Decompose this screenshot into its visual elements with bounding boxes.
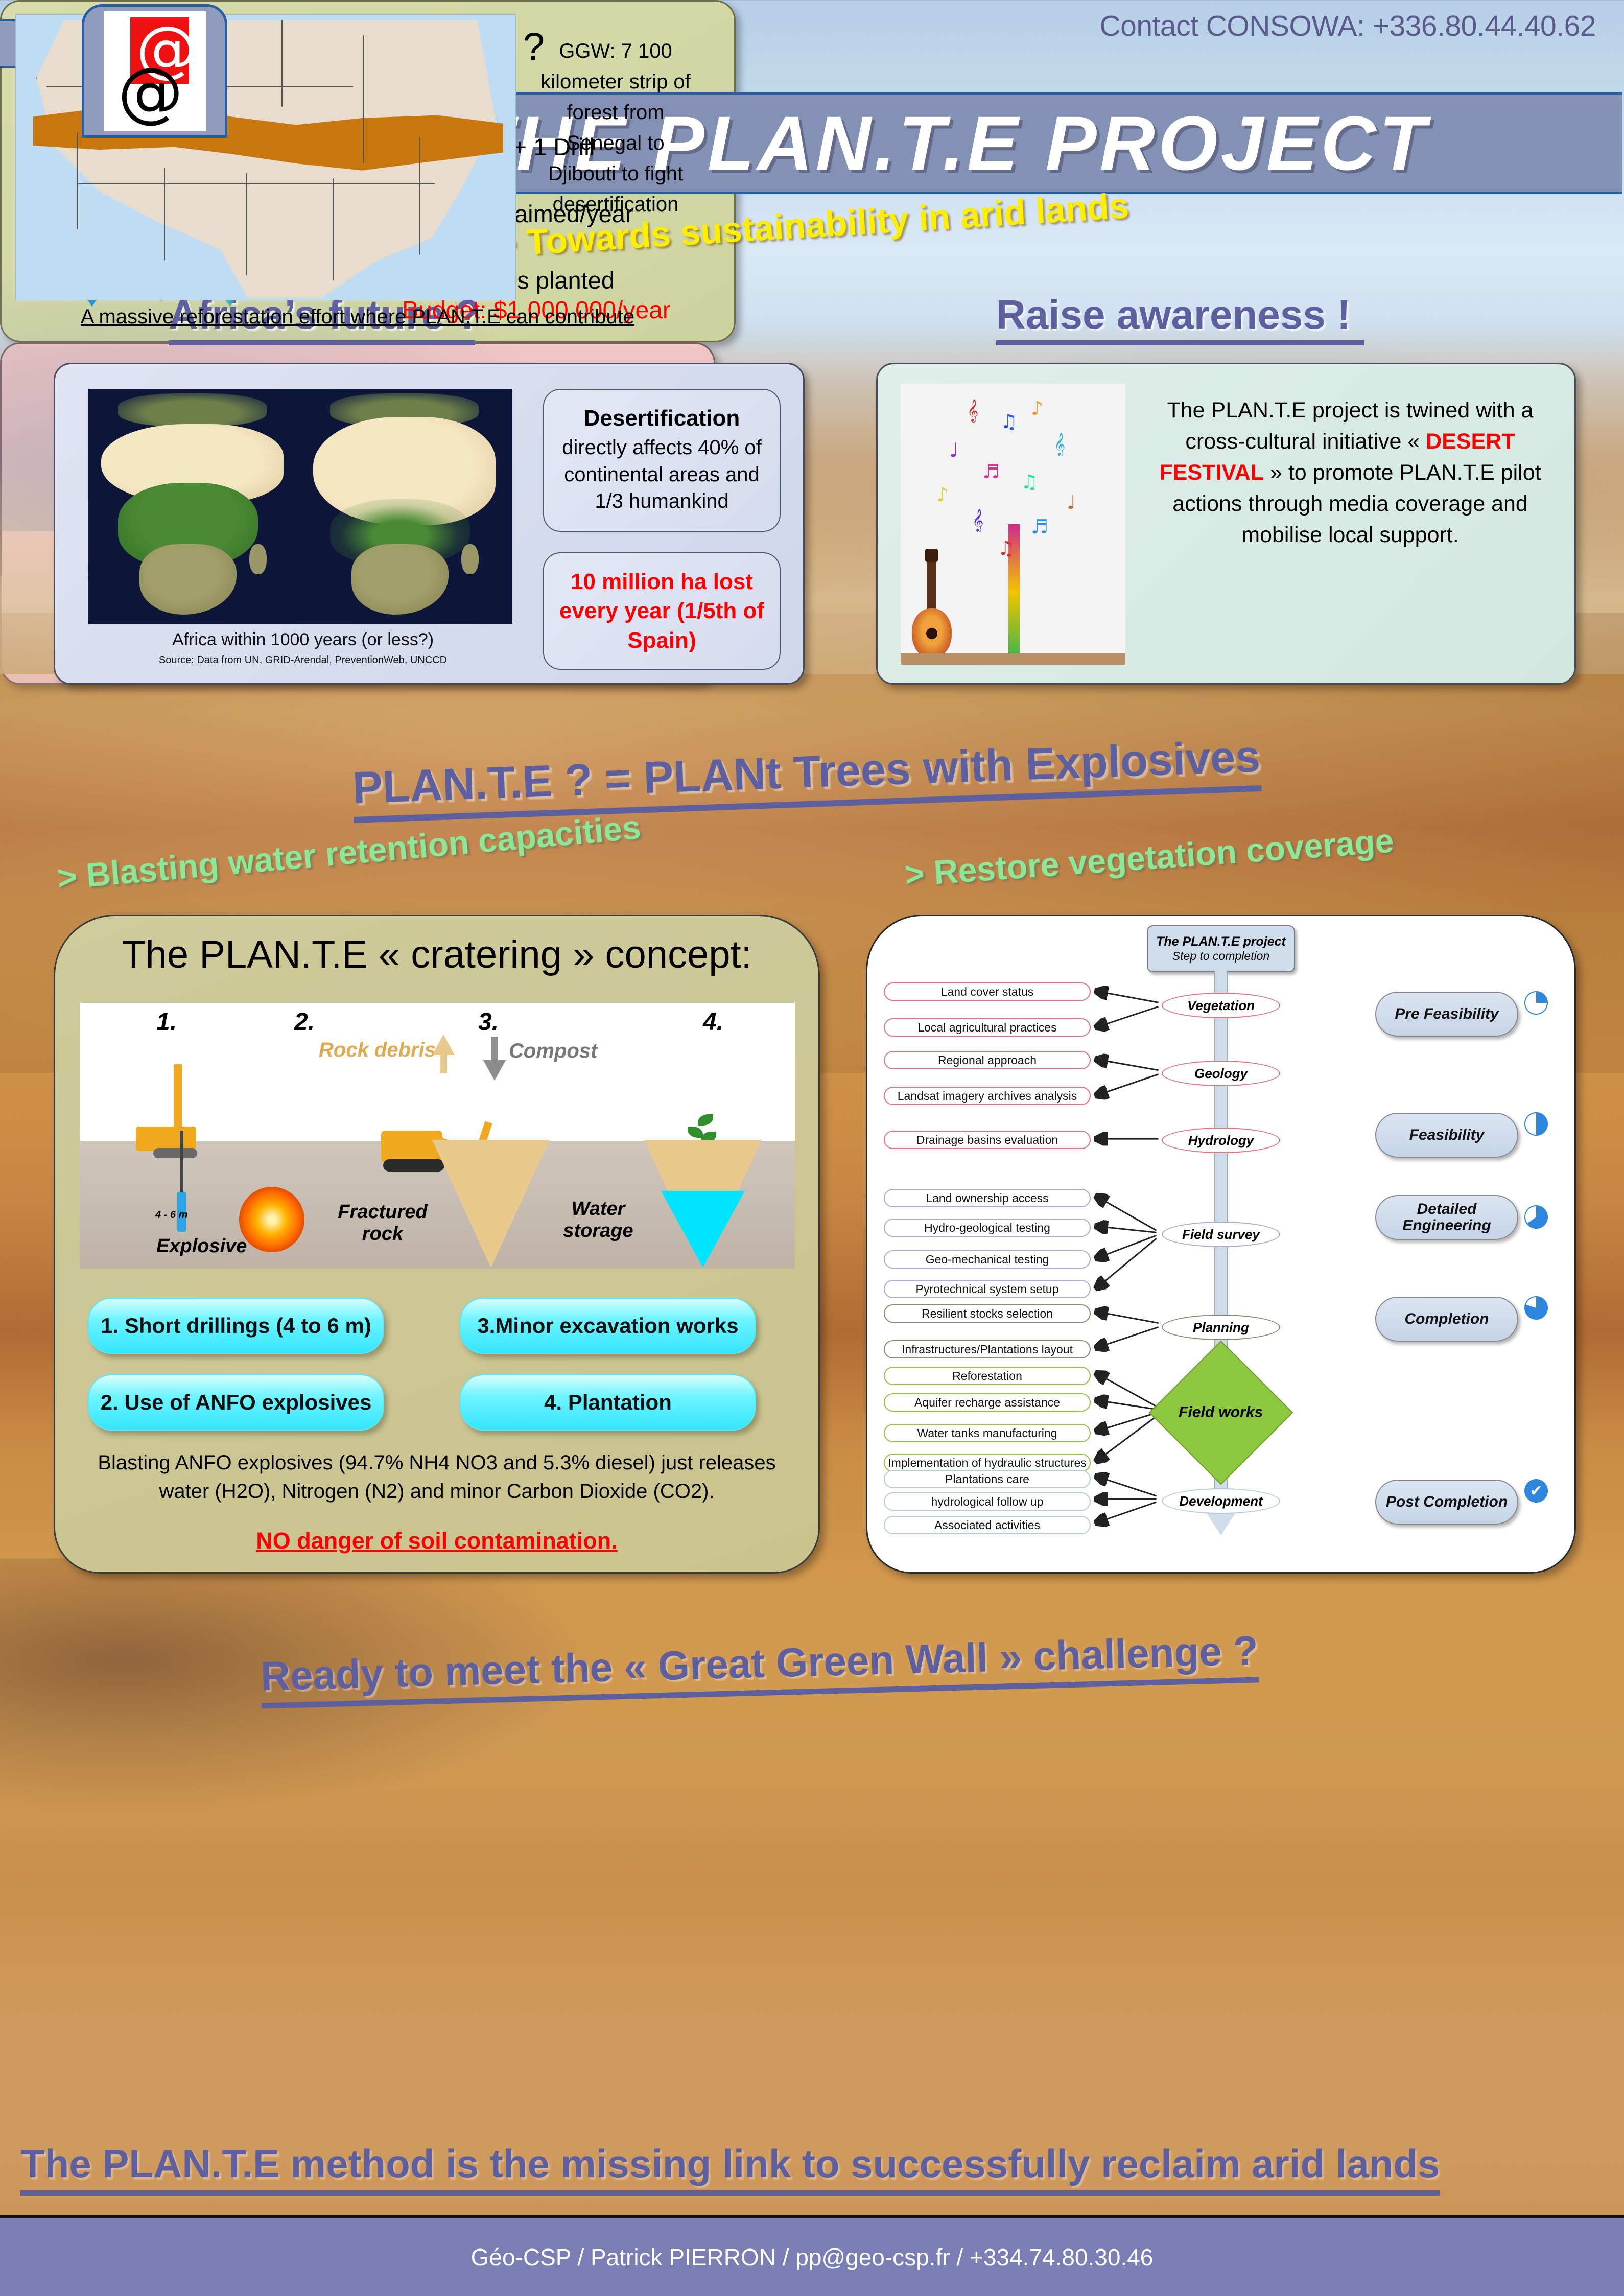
step-chip-excavation-works[interactable]: 3.Minor excavation works [460,1298,756,1354]
project-flowchart-panel: The PLAN.T.E project Step to completion … [866,915,1576,1574]
rock-debris-label: Rock debris [319,1039,436,1062]
africa-map-future [300,389,512,624]
conclusion-heading: The PLAN.T.E method is the missing link … [20,2141,1440,2196]
flow-item[interactable]: Implementation of hydraulic structures [884,1454,1091,1472]
fractured-rock-label: Fractured rock [334,1201,431,1245]
flow-item[interactable]: hydrological follow up [884,1492,1091,1511]
heading-rule [169,340,475,345]
flow-item[interactable]: Drainage basins evaluation [884,1131,1091,1149]
contact-text: Contact CONSOWA: +336.80.44.40.62 [1099,9,1596,43]
callout-desertification-body: directly affects 40% of continental area… [552,434,771,515]
stage-post-completion[interactable]: Post Completion [1375,1480,1518,1525]
ggw-caption: A massive reforestation effort where PLA… [7,306,708,329]
flowchart-root-title: The PLAN.T.E project [1156,934,1286,949]
no-soil-contamination-note: NO danger of soil contamination. [82,1528,792,1554]
raise-awareness-panel: 𝄞 ♫ ♪ ♩ 𝄞 ♬ ♫ ♪ ♩ 𝄞 ♬ ♫ The PLAN.T.E pro… [876,363,1576,685]
step-chip-anfo-explosives[interactable]: 2. Use of ANFO explosives [88,1374,384,1431]
progress-pie-icon [1524,1112,1548,1136]
consowa-logo-icon: @ @ [104,11,206,131]
arrow-down-icon [483,1060,506,1081]
cratering-diagram: 1. 2. 3. 4. Rock debris Compost 4 - 6 m … [80,1003,795,1269]
flow-item[interactable]: Plantations care [884,1470,1091,1488]
flow-item[interactable]: Landsat imagery archives analysis [884,1087,1091,1105]
callout-desertification-title: Desertification [552,406,771,431]
step-chip-plantation[interactable]: 4. Plantation [460,1374,756,1431]
flow-item[interactable]: Regional approach [884,1051,1091,1069]
africa-map-today [88,389,300,624]
flow-item[interactable]: Land cover status [884,982,1091,1001]
flow-item[interactable]: Water tanks manufacturing [884,1424,1091,1442]
drill-depth-label: 4 - 6 m [155,1209,187,1221]
flow-node-geology[interactable]: Geology [1162,1061,1280,1086]
flowchart-root-subtitle: Step to completion [1172,949,1270,963]
flow-item[interactable]: Hydro-geological testing [884,1219,1091,1237]
footer-contact-text: Géo-CSP / Patrick PIERRON / pp@geo-csp.f… [471,2243,1154,2271]
consowa-logo-badge: @ @ [82,4,227,138]
flow-node-field-works[interactable]: Field works [1149,1341,1293,1485]
flow-item[interactable]: Pyrotechnical system setup [884,1280,1091,1298]
flow-item[interactable]: Land ownership access [884,1189,1091,1207]
africa-map-caption: Africa within 1000 years (or less?) [91,630,515,650]
anfo-description: Blasting ANFO explosives (94.7% NH4 NO3 … [82,1448,792,1506]
step-number-2: 2. [294,1008,315,1036]
progress-pie-icon [1524,1205,1548,1229]
heading-raise-awareness-text: Raise awareness ! [996,292,1351,337]
music-tree-image: 𝄞 ♫ ♪ ♩ 𝄞 ♬ ♫ ♪ ♩ 𝄞 ♬ ♫ [901,384,1125,665]
ggw-description: GGW: 7 100 kilometer strip of forest fro… [531,36,700,220]
flow-item[interactable]: Aquifer recharge assistance [884,1393,1091,1412]
heading-raise-awareness: Raise awareness ! [996,291,1364,345]
flow-node-field-survey[interactable]: Field survey [1162,1222,1280,1247]
poster-footer: Géo-CSP / Patrick PIERRON / pp@geo-csp.f… [0,2215,1624,2296]
heading-plante-definition: PLAN.T.E ? = PLANt Trees with Explosives [351,730,1261,823]
flow-item[interactable]: Resilient stocks selection [884,1304,1091,1323]
heading-plante-text: PLAN.T.E ? = PLANt Trees with Explosives [351,731,1261,813]
flow-item[interactable]: Geo-mechanical testing [884,1250,1091,1269]
progress-pie-icon [1524,1296,1548,1320]
guitar-icon [912,549,952,659]
raise-awareness-text: The PLAN.T.E project is twined with a cr… [1143,395,1557,551]
heading-ggw-text: Ready to meet the « Great Green Wall » c… [260,1627,1259,1699]
check-circle-icon: ✔ [1524,1479,1548,1503]
heading-rule [20,2190,1440,2196]
flow-item[interactable]: Associated activities [884,1516,1091,1534]
drill-rig-icon [136,1064,197,1151]
step-chip-short-drillings[interactable]: 1. Short drillings (4 to 6 m) [88,1298,384,1354]
stage-completion[interactable]: Completion [1375,1297,1518,1342]
water-storage-label: Water storage [555,1198,642,1242]
progress-pie-icon [1524,991,1548,1015]
flow-node-vegetation[interactable]: Vegetation [1162,993,1280,1018]
compost-label: Compost [509,1040,597,1063]
stage-pre-feasibility[interactable]: Pre Feasibility [1375,992,1518,1037]
step-number-3: 3. [478,1008,499,1036]
stage-detailed-engineering[interactable]: Detailed Engineering [1375,1195,1518,1240]
stage-feasibility[interactable]: Feasibility [1375,1113,1518,1158]
cratering-panel-title: The PLAN.T.E « cratering » concept: [55,932,818,977]
flow-node-planning[interactable]: Planning [1162,1315,1280,1340]
step-number-4: 4. [703,1008,723,1036]
flow-item[interactable]: Infrastructures/Plantations layout [884,1340,1091,1358]
africa-comparison-maps [88,389,512,624]
flow-item[interactable]: Local agricultural practices [884,1018,1091,1037]
callout-desertification: Desertification directly affects 40% of … [543,389,781,532]
step-number-1: 1. [156,1008,177,1036]
flow-node-field-works-label: Field works [1179,1404,1263,1421]
flowchart-root-node: The PLAN.T.E project Step to completion [1147,925,1295,972]
explosive-label: Explosive [156,1235,247,1257]
africa-future-panel: Africa within 1000 years (or less?) Sour… [54,363,805,685]
africa-map-source: Source: Data from UN, GRID-Arendal, Prev… [91,654,515,666]
explosion-icon [239,1187,304,1252]
flow-node-hydrology[interactable]: Hydrology [1162,1128,1280,1153]
heading-restore-vegetation: > Restore vegetation coverage [904,821,1395,894]
callout-land-loss: 10 million ha lost every year (1/5th of … [543,552,781,670]
heading-blasting-water: > Blasting water retention capacities [56,807,642,897]
flow-item[interactable]: Reforestation [884,1367,1091,1385]
heading-rule [996,340,1364,345]
conclusion-text: The PLAN.T.E method is the missing link … [20,2141,1440,2186]
arrow-up-icon [432,1035,455,1055]
flow-node-development[interactable]: Development [1162,1488,1280,1514]
heading-great-green-wall: Ready to meet the « Great Green Wall » c… [260,1627,1259,1708]
